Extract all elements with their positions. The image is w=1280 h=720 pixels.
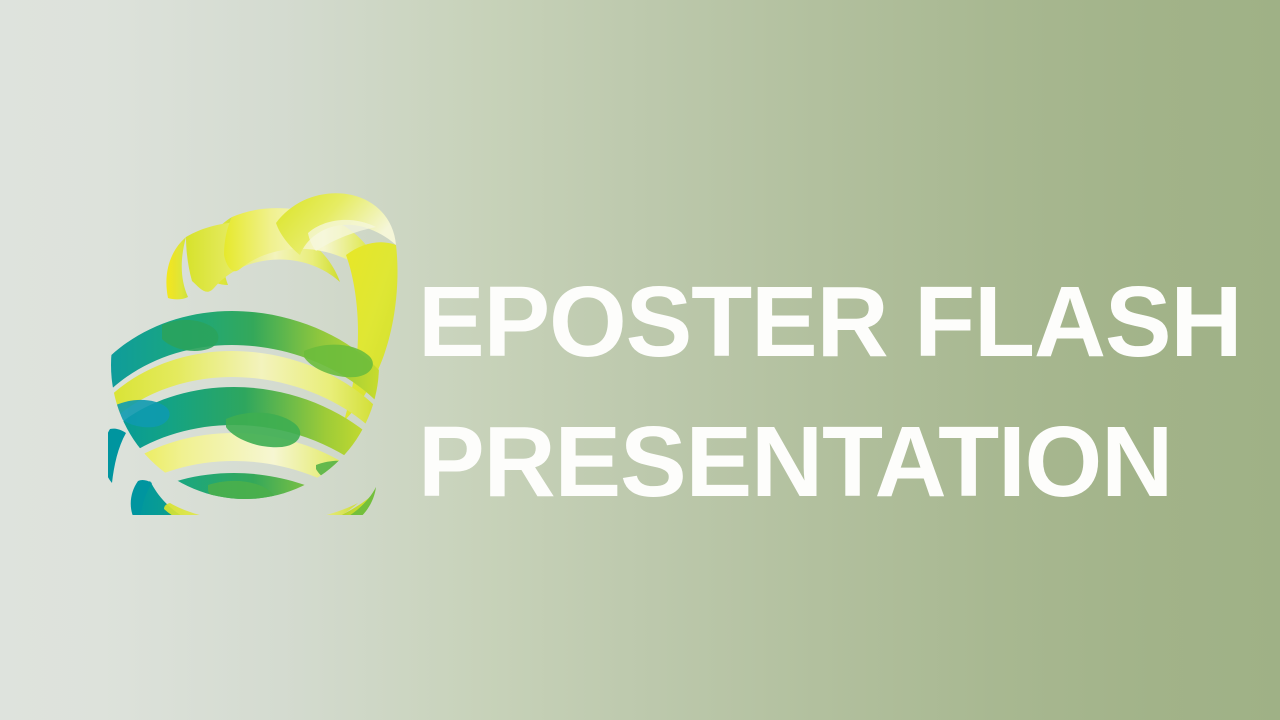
ribbon-bottom-tab <box>344 487 376 515</box>
presentation-slide: EPOSTER FLASH PRESENTATION <box>0 0 1280 720</box>
globe-ribbon-logo-graphic <box>108 193 400 515</box>
ribbon-flick-left <box>166 237 188 299</box>
slide-title-line-1: EPOSTER FLASH <box>418 252 1218 392</box>
ribbon-bottom-highlight <box>164 503 358 515</box>
landmass-southeast <box>316 461 372 489</box>
slide-title: EPOSTER FLASH PRESENTATION <box>418 252 1218 532</box>
globe-ribbon-logo <box>108 193 400 515</box>
slide-title-line-2: PRESENTATION <box>418 392 1218 532</box>
